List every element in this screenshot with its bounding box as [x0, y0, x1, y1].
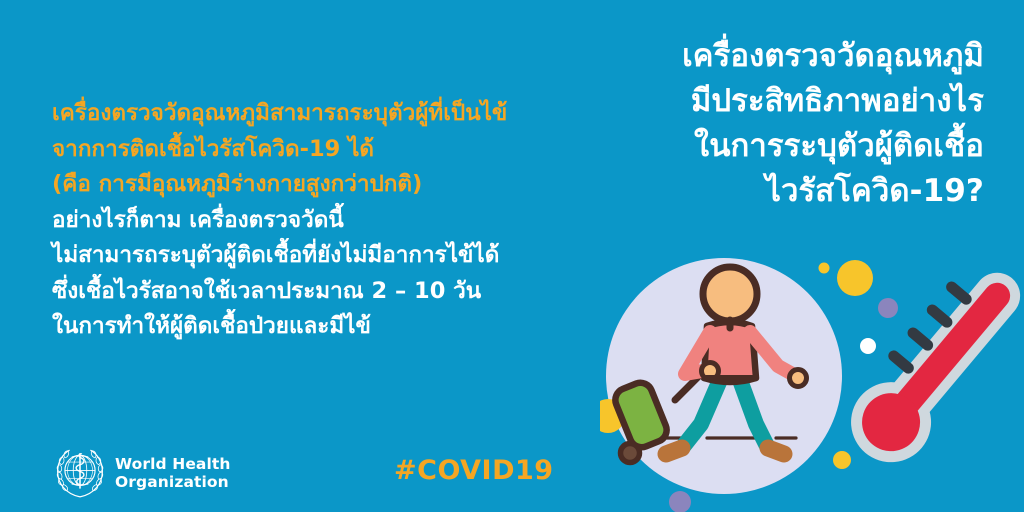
illustration-traveler-thermometer [600, 248, 1024, 512]
body-line: จากการติดเชื้อไวรัสโควิด-19 ได้ [52, 132, 612, 168]
dot-yellow-large [837, 260, 873, 296]
who-logo: World Health Organization [54, 447, 231, 499]
who-wordmark: World Health Organization [115, 455, 231, 491]
body-line: ซึ่งเชื้อไวรัสอาจใช้เวลาประมาณ 2 – 10 วั… [52, 274, 612, 310]
body-line: เครื่องตรวจวัดอุณหภูมิสามารถระบุตัวผู้ที… [52, 96, 612, 132]
who-emblem-icon [54, 447, 106, 499]
dot-white [860, 338, 876, 354]
body-line: (คือ การมีอุณหภูมิร่างกายสูงกว่าปกติ) [52, 167, 612, 203]
dot-yellow-small [819, 263, 830, 274]
body-line: ไม่สามารถระบุตัวผู้ติดเชื้อที่ยังไม่มีอา… [52, 238, 612, 274]
body-copy-block: เครื่องตรวจวัดอุณหภูมิสามารถระบุตัวผู้ที… [52, 96, 612, 345]
body-line: อย่างไรก็ตาม เครื่องตรวจวัดนี้ [52, 203, 612, 239]
body-line: ในการทำให้ผู้ติดเชื้อป่วยและมีไข้ [52, 309, 612, 345]
dot-yellow-lower-right [833, 451, 851, 469]
infographic-poster: เครื่องตรวจวัดอุณหภูมิ มีประสิทธิภาพอย่า… [0, 0, 1024, 512]
dot-purple-upper [878, 298, 898, 318]
hashtag-covid19: #COVID19 [394, 455, 554, 486]
dot-purple-lower [669, 491, 691, 512]
